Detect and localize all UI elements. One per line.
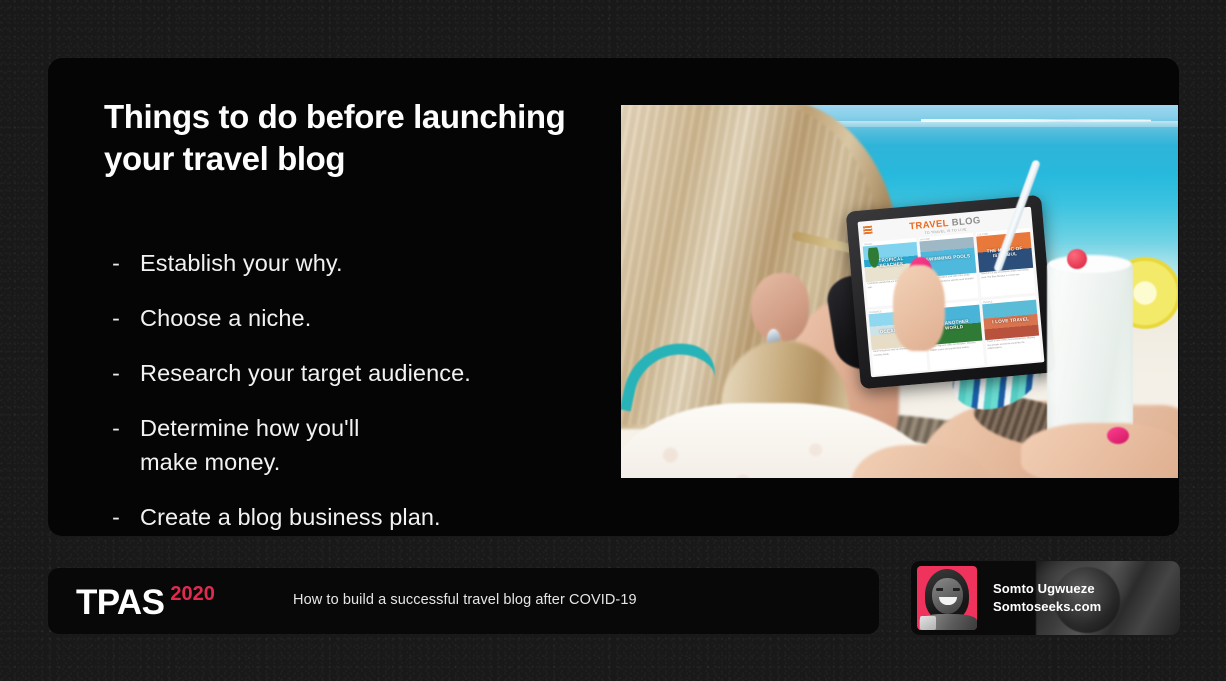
bullet-dash-icon: - xyxy=(92,301,140,335)
bullet-text: Choose a niche. xyxy=(140,301,311,335)
avatar-phone xyxy=(920,616,936,630)
tcard-caption: I LOVE TRAVEL xyxy=(990,316,1031,325)
bullet-dash-icon: - xyxy=(92,411,140,445)
footer-bar: TPAS 2020 How to build a successful trav… xyxy=(48,568,879,634)
hand-holding-glass xyxy=(1021,423,1178,478)
list-item: - Establish your why. xyxy=(92,246,632,280)
list-item: - Create a blog business plan. xyxy=(92,500,632,534)
tcard-thumbnail: I LOVE TRAVEL xyxy=(982,300,1039,341)
bullet-dash-icon: - xyxy=(92,356,140,390)
list-item: - Research your target audience. xyxy=(92,356,632,390)
list-item: - Choose a niche. xyxy=(92,301,632,335)
speaker-website: Somtoseeks.com xyxy=(993,598,1101,616)
speaker-info: Somto Ugwueze Somtoseeks.com xyxy=(993,561,1101,635)
tablet-screen: TRAVEL BLOG TO TRAVEL IS TO LIVE TRAVEL … xyxy=(858,207,1045,378)
slide-title: Things to do before launching your trave… xyxy=(104,96,624,180)
avatar-face xyxy=(932,578,963,614)
distant-boats xyxy=(921,118,1151,123)
speaker-name: Somto Ugwueze xyxy=(993,580,1101,598)
bullet-text: Determine how you'll make money. xyxy=(140,411,359,479)
brand-logo: TPAS 2020 xyxy=(76,585,215,620)
bullet-text: Establish your why. xyxy=(140,246,343,280)
bullet-text: Research your target audience. xyxy=(140,356,471,390)
thumb xyxy=(893,265,945,351)
tcard-body: Travel is one of life's best experiences… xyxy=(985,336,1041,365)
tcard-body: Istanbul is a city of contrasts where ea… xyxy=(979,268,1035,297)
bullet-dash-icon: - xyxy=(92,500,140,534)
slide-photo: TRAVEL BLOG TO TRAVEL IS TO LIVE TRAVEL … xyxy=(621,105,1178,478)
list-item: - Determine how you'll make money. xyxy=(92,411,632,479)
painted-fingernail xyxy=(1107,427,1129,444)
tcard-caption: SWIMMING POOLS xyxy=(924,253,973,262)
footer-subtitle: How to build a successful travel blog af… xyxy=(293,592,637,608)
avatar xyxy=(917,566,977,630)
slide-card: Things to do before launching your trave… xyxy=(48,58,1179,536)
tablet-device: TRAVEL BLOG TO TRAVEL IS TO LIVE TRAVEL … xyxy=(846,195,1057,389)
brand-year: 2020 xyxy=(170,584,215,604)
tcard-body: Hidden lagoons, cliffs and beaches. Disc… xyxy=(929,341,985,370)
speaker-card: Somto Ugwueze Somtoseeks.com xyxy=(911,561,1180,635)
cocktail-foam xyxy=(1049,255,1131,273)
list-item: PEOPLE I LOVE TRAVEL Travel is one of li… xyxy=(982,296,1041,365)
ear xyxy=(751,273,809,343)
tablet-article-grid: TRAVEL TROPICAL BEACHES Caribbean island… xyxy=(862,228,1041,375)
bullet-text: Create a blog business plan. xyxy=(140,500,441,534)
bullet-list: - Establish your why. - Choose a niche. … xyxy=(92,246,632,555)
cocktail-cherry xyxy=(1067,249,1087,269)
bullet-dash-icon: - xyxy=(92,246,140,280)
avatar-eyes xyxy=(936,588,960,591)
brand-name: TPAS xyxy=(76,585,164,620)
